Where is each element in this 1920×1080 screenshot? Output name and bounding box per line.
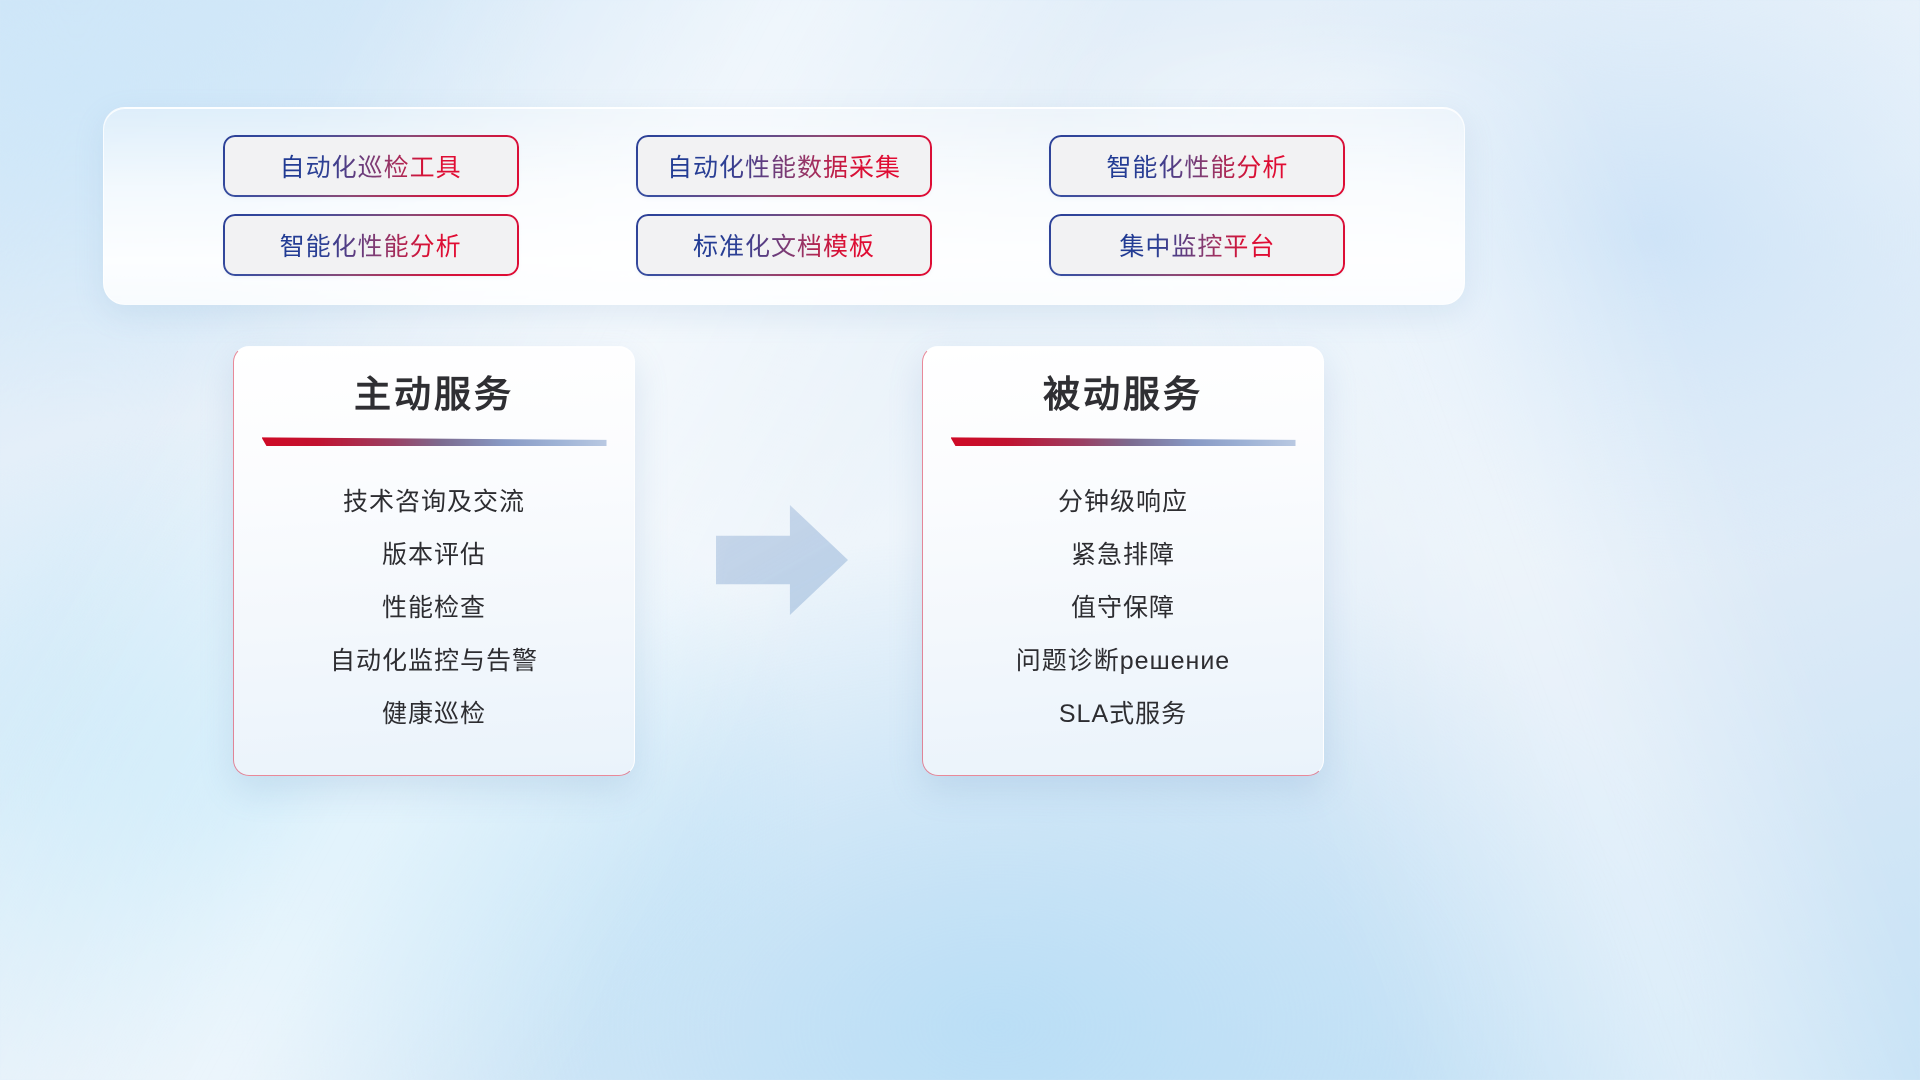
service-list-item: SLA式服务 <box>923 688 1323 741</box>
title-divider <box>951 437 1296 446</box>
arrow-right-icon <box>716 505 848 615</box>
service-card-title: 被动服务 <box>923 373 1323 417</box>
service-card-passive: 被动服务 分钟级响应 紧急排障 值守保障 问题诊断решение SLA式服务 <box>922 346 1324 776</box>
capability-pill[interactable]: 集中监控平台 <box>1051 216 1343 274</box>
capabilities-panel: 自动化巡检工具 自动化性能数据采集 智能化性能分析 智能化性能分析 标准化文档模… <box>103 107 1465 305</box>
service-card-active: 主动服务 技术咨询及交流 版本评估 性能检查 自动化监控与告警 健康巡检 <box>233 346 635 776</box>
title-divider <box>262 437 607 446</box>
capability-pill-label: 集中监控平台 <box>1119 227 1275 263</box>
capability-pill-label: 自动化巡检工具 <box>280 148 462 184</box>
service-item-list: 技术咨询及交流 版本评估 性能检查 自动化监控与告警 健康巡检 <box>234 476 634 741</box>
capability-pill[interactable]: 标准化文档模板 <box>638 216 930 274</box>
service-list-item: 性能检查 <box>234 582 634 635</box>
service-list-item: 版本评估 <box>234 529 634 582</box>
capability-pill-label: 标准化文档模板 <box>693 227 875 263</box>
service-list-item: 值守保障 <box>923 582 1323 635</box>
service-card-title: 主动服务 <box>234 373 634 417</box>
capability-pill-label: 自动化性能数据采集 <box>667 148 901 184</box>
capability-pill[interactable]: 自动化性能数据采集 <box>638 137 930 195</box>
capability-pill[interactable]: 智能化性能分析 <box>225 216 517 274</box>
service-list-item: 健康巡检 <box>234 688 634 741</box>
service-item-list: 分钟级响应 紧急排障 值守保障 问题诊断решение SLA式服务 <box>923 476 1323 741</box>
capability-pill[interactable]: 自动化巡检工具 <box>225 137 517 195</box>
service-list-item: 分钟级响应 <box>923 476 1323 529</box>
capability-pill-label: 智能化性能分析 <box>280 227 462 263</box>
capability-pill[interactable]: 智能化性能分析 <box>1051 137 1343 195</box>
service-list-item: 技术咨询及交流 <box>234 476 634 529</box>
capability-pill-label: 智能化性能分析 <box>1106 148 1288 184</box>
service-list-item: 问题诊断решение <box>923 635 1323 688</box>
service-list-item: 自动化监控与告警 <box>234 635 634 688</box>
service-list-item: 紧急排障 <box>923 529 1323 582</box>
